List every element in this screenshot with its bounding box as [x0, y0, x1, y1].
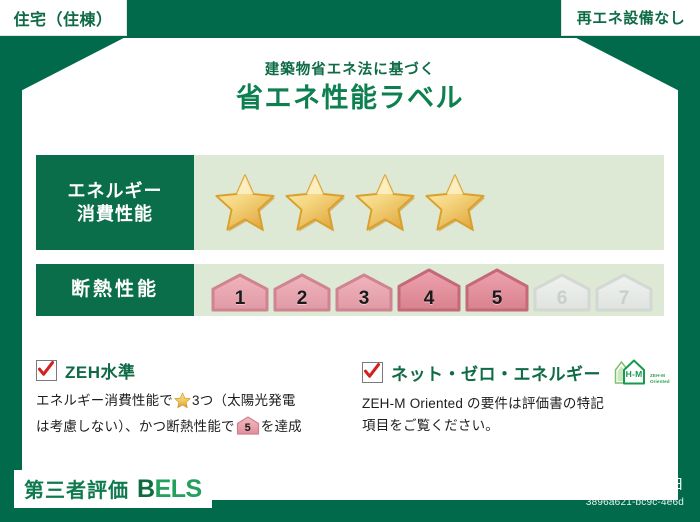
zeh-desc-part-b: は考慮しない）、かつ断熱性能で — [36, 419, 235, 434]
inline-house-level-icon: 5 — [236, 416, 260, 435]
energy-performance-row-header: エネルギー 消費性能 — [36, 155, 194, 250]
nze-desc-line2: 項目をご覧ください。 — [362, 418, 499, 433]
star-icon — [284, 173, 346, 233]
insulation-level-4: 4 — [396, 267, 462, 313]
inline-house-level-number: 5 — [236, 419, 260, 437]
zeh-desc-part-c: を達成 — [261, 419, 302, 434]
inline-star-icon — [174, 392, 191, 416]
insulation-row-header: 断熱性能 — [36, 264, 194, 316]
tag-building-type: 住宅（住棟） — [0, 0, 127, 36]
tag-renewable-energy-text: 再エネ設備なし — [577, 7, 686, 28]
energy-row-label-line1: エネルギー — [68, 180, 163, 203]
building-name: D-Luce — [222, 479, 270, 499]
insulation-level-number: 1 — [210, 288, 270, 310]
criteria-zeh-title-row: ZEH水準 — [36, 358, 356, 383]
bels-plate: 第三者評価 BELS — [14, 470, 212, 508]
insulation-level-2: 2 — [272, 272, 332, 313]
insulation-level-scale: 1234567 — [194, 267, 654, 313]
zeh-house-mark-icon: H-M — [613, 358, 649, 386]
insulation-level-number: 5 — [464, 288, 530, 310]
check-icon — [38, 361, 54, 379]
bels-footer: 第三者評価 BELS D-Luce 寄合町 — [14, 470, 327, 508]
nze-title-text: ネット・ゼロ・エネルギー — [391, 360, 601, 385]
label-header: 建築物省エネ法に基づく 省エネ性能ラベル — [0, 62, 700, 116]
insulation-row-label: 断熱性能 — [71, 278, 159, 302]
check-icon — [364, 363, 380, 381]
criteria-net-zero-energy: ネット・ゼロ・エネルギー H-M ZEH-M Oriented ZEH-M Or… — [362, 358, 670, 438]
insulation-row-body: 1234567 — [194, 264, 664, 316]
zeh-title-text: ZEH水準 — [65, 358, 136, 383]
energy-performance-label: 住宅（住棟） 再エネ設備なし 建築物省エネ法に基づく 省エネ性能ラベル エネルギ… — [0, 0, 700, 522]
zeh-checkbox[interactable] — [36, 360, 57, 381]
nze-desc-line1: ZEH-M Oriented の要件は評価書の特記 — [362, 396, 604, 411]
third-party-evaluation-label: 第三者評価 — [24, 474, 129, 503]
zeh-logo-line2: Oriented — [650, 379, 670, 384]
page-title: 省エネ性能ラベル — [0, 82, 700, 116]
zeh-logo-caption: ZEH-M Oriented — [650, 373, 670, 386]
zeh-description: エネルギー消費性能で 3つ（太陽光発電 は考慮しない）、かつ断熱性能で — [36, 390, 356, 439]
bels-logo: BELS — [137, 475, 202, 504]
energy-performance-row: エネルギー 消費性能 — [36, 155, 664, 250]
zeh-m-oriented-logo: H-M ZEH-M Oriented — [613, 358, 670, 386]
criteria-zeh-standard: ZEH水準 エネルギー消費性能で 3つ（太陽光発電 は考慮しない）、かつ断熱性能… — [36, 358, 356, 439]
star-icon — [214, 173, 276, 233]
insulation-level-number: 2 — [272, 288, 332, 310]
zeh-logo-line1: ZEH-M — [650, 373, 665, 378]
tag-building-type-text: 住宅（住棟） — [13, 6, 112, 30]
evaluation-date-block: 評価日 2025年5月15日 3896a621-bc9c-4e6d — [536, 474, 684, 508]
building-identity: D-Luce 寄合町 — [222, 479, 328, 499]
star-icon — [424, 173, 486, 233]
insulation-level-number: 6 — [532, 288, 592, 310]
criteria-nze-title-row: ネット・ゼロ・エネルギー H-M ZEH-M Oriented — [362, 358, 670, 386]
insulation-level-number: 7 — [594, 288, 654, 310]
energy-row-label-line2: 消費性能 — [77, 203, 153, 226]
evaluation-date-value: 2025年5月15日 — [583, 476, 684, 492]
bels-logo-b: B — [137, 475, 155, 503]
evaluation-date-line: 評価日 2025年5月15日 — [536, 474, 684, 494]
insulation-level-1: 1 — [210, 272, 270, 313]
insulation-performance-row: 断熱性能 1234567 — [36, 264, 664, 316]
insulation-level-number: 4 — [396, 288, 462, 310]
insulation-level-5: 5 — [464, 267, 530, 313]
insulation-level-7: 7 — [594, 272, 654, 313]
net-zero-checkbox[interactable] — [362, 362, 383, 383]
zeh-desc-part-a: エネルギー消費性能で — [36, 393, 173, 408]
nze-description: ZEH-M Oriented の要件は評価書の特記 項目をご覧ください。 — [362, 393, 670, 438]
bels-logo-els: ELS — [155, 475, 202, 503]
insulation-level-6: 6 — [532, 272, 592, 313]
svg-text:H-M: H-M — [626, 369, 643, 379]
header-subtitle: 建築物省エネ法に基づく — [0, 62, 700, 79]
zeh-desc-star-count: 3つ（太陽光発電 — [192, 393, 296, 408]
star-icon — [354, 173, 416, 233]
building-area: 寄合町 — [284, 479, 328, 499]
certificate-id: 3896a621-bc9c-4e6d — [536, 497, 684, 508]
insulation-level-3: 3 — [334, 272, 394, 313]
energy-performance-row-body — [194, 155, 664, 250]
star-rating — [194, 173, 486, 233]
evaluation-date-label: 評価日 — [536, 476, 579, 492]
insulation-level-number: 3 — [334, 288, 394, 310]
tag-renewable-energy: 再エネ設備なし — [561, 0, 700, 36]
